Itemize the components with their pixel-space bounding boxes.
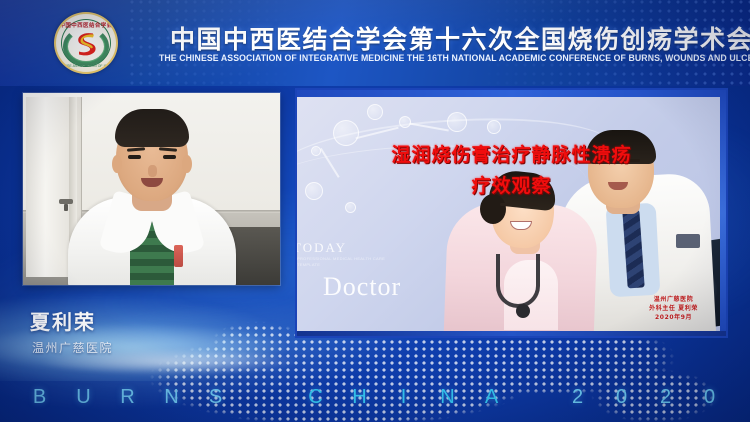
presentation-slide[interactable]: TODAY PROFESSIONAL MEDICAL HEALTH CARE T… — [295, 88, 728, 338]
slide-border-top — [297, 90, 726, 97]
logo-top-text: 中国中西医结合学会 — [56, 21, 116, 29]
conference-header-banner: 中国中西医结合学会 CHINESE ASSOCIATION OF INTEGRA… — [0, 0, 750, 86]
speaker-nose — [148, 165, 157, 177]
slide-title-line-1: 湿润烧伤膏治疗静脉性溃疡 — [297, 140, 726, 171]
conference-title-english: THE CHINESE ASSOCIATION OF INTEGRATIVE M… — [159, 53, 737, 63]
male-doctor-pocket — [676, 234, 700, 248]
coat-badge — [174, 245, 183, 267]
slide-credit-block: 温州广慈医院 外科主任 夏利荣 2020年9月 — [649, 295, 698, 322]
speaker-eye-left — [128, 155, 141, 159]
logo-s-mark — [71, 31, 101, 57]
presentation-stage: 中国中西医结合学会 CHINESE ASSOCIATION OF INTEGRA… — [0, 0, 750, 422]
logo-bottom-text: CHINESE ASSOCIATION OF INTEGRATIVE MEDIC… — [56, 64, 116, 68]
slide-credit-hospital: 温州广慈医院 — [649, 295, 698, 304]
door-lock — [64, 204, 68, 211]
female-doctor-eye-left — [500, 203, 510, 207]
speaker-eye-right — [163, 155, 176, 159]
speaker-name: 夏利荣 — [30, 306, 96, 335]
speaker-video-feed[interactable] — [23, 93, 280, 285]
slide-border-right — [720, 90, 726, 336]
slide-border-bottom — [297, 331, 726, 336]
slide-title: 湿润烧伤膏治疗静脉性溃疡 疗效观察 — [297, 140, 726, 202]
slide-watermark-today-subtitle: PROFESSIONAL MEDICAL HEALTH CARE TEMPLAT… — [297, 256, 407, 268]
slide-credit-author: 外科主任 夏利荣 — [649, 304, 698, 313]
conference-title-chinese: 中国中西医结合学会第十六次全国烧伤创疡学术会议 — [170, 20, 745, 56]
stethoscope-bell-icon — [516, 304, 530, 318]
association-logo: 中国中西医结合学会 CHINESE ASSOCIATION OF INTEGRA… — [54, 12, 118, 74]
slide-credit-date: 2020年9月 — [649, 313, 698, 322]
stethoscope-icon — [496, 254, 540, 308]
speaker-ear-right — [182, 155, 192, 173]
slide-title-line-2: 疗效观察 — [297, 171, 726, 202]
slide-watermark-doctor: Doctor — [323, 272, 401, 302]
female-doctor-eye-right — [528, 203, 538, 207]
slide-watermark-today: TODAY — [295, 240, 347, 256]
speaker-organization: 温州广慈医院 — [32, 339, 113, 356]
speaker-hair — [115, 109, 189, 147]
bubble-decor-2 — [367, 104, 383, 120]
speaker-ear-left — [112, 155, 122, 173]
